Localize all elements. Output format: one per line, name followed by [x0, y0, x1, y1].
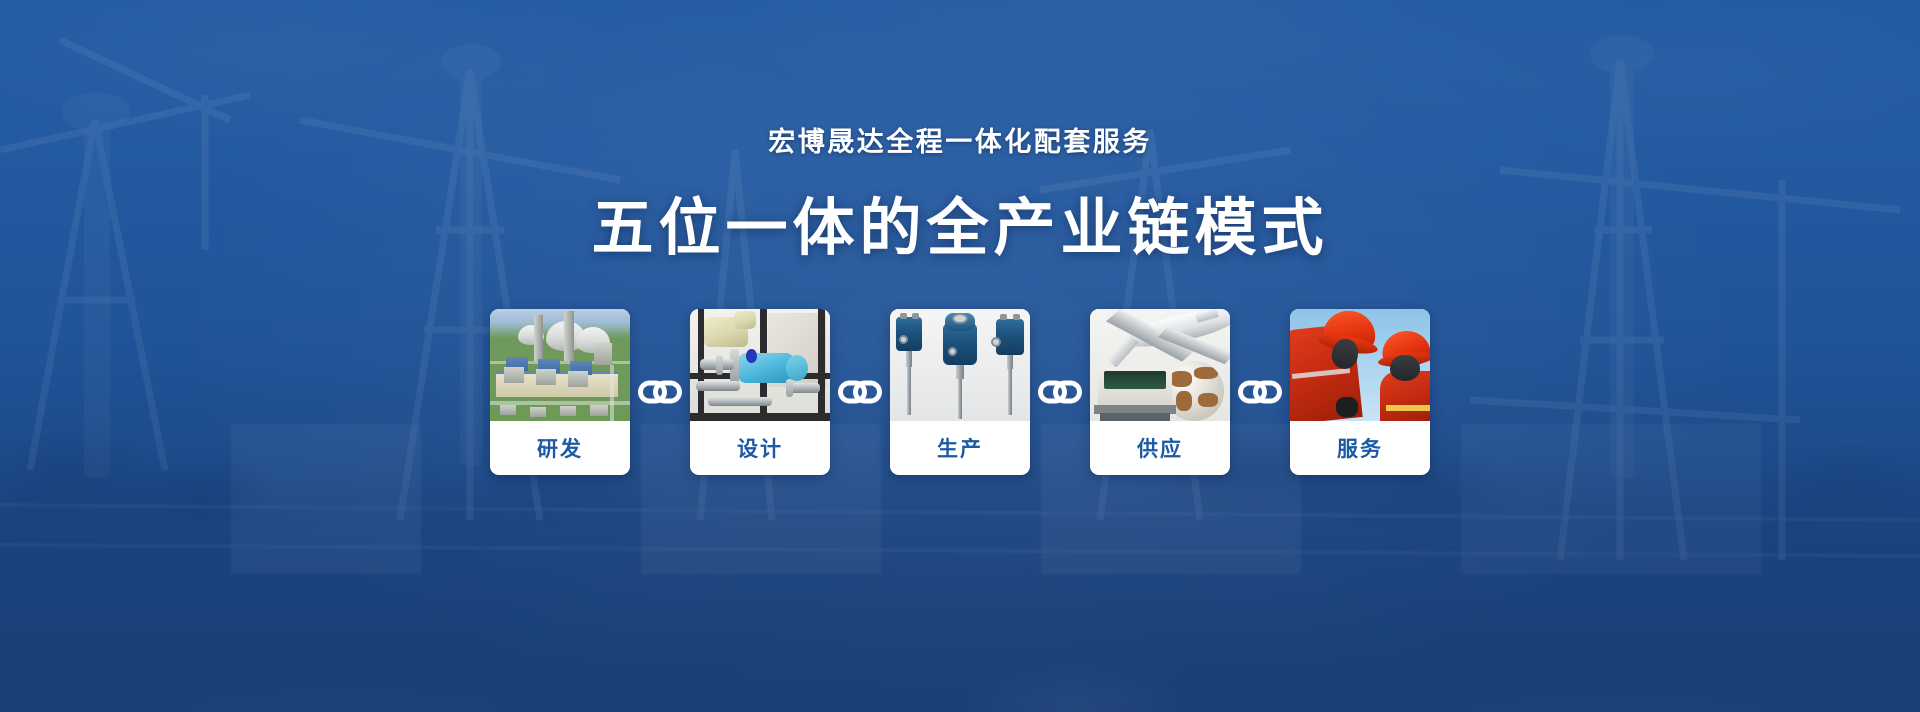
- value-chain-row: 研发: [490, 309, 1430, 475]
- banner-subtitle: 宏博晟达全程一体化配套服务: [768, 120, 1152, 159]
- crew-icon: [1290, 309, 1430, 421]
- chain-card-service[interactable]: 服务: [1290, 309, 1430, 475]
- logistics-icon: [1090, 309, 1230, 421]
- banner-content: 宏博晟达全程一体化配套服务 五位一体的全产业链模式: [0, 0, 1920, 712]
- chain-card-label: 服务: [1290, 421, 1430, 475]
- chain-card-supply[interactable]: 供应: [1090, 309, 1230, 475]
- chain-link-icon: [1030, 309, 1090, 475]
- chain-card-label: 供应: [1090, 421, 1230, 475]
- chain-link-icon: [630, 309, 690, 475]
- chain-card-label: 研发: [490, 421, 630, 475]
- hero-banner: 宏博晟达全程一体化配套服务 五位一体的全产业链模式: [0, 0, 1920, 712]
- instrument-icon: [890, 309, 1030, 421]
- plant-icon: [490, 309, 630, 421]
- chain-link-icon: [1230, 309, 1290, 475]
- chain-card-label: 设计: [690, 421, 830, 475]
- chain-card-production[interactable]: 生产: [890, 309, 1030, 475]
- cad-icon: [690, 309, 830, 421]
- chain-card-design[interactable]: 设计: [690, 309, 830, 475]
- chain-card-label: 生产: [890, 421, 1030, 475]
- chain-card-rd[interactable]: 研发: [490, 309, 630, 475]
- chain-link-icon: [830, 309, 890, 475]
- banner-headline: 五位一体的全产业链模式: [591, 177, 1328, 267]
